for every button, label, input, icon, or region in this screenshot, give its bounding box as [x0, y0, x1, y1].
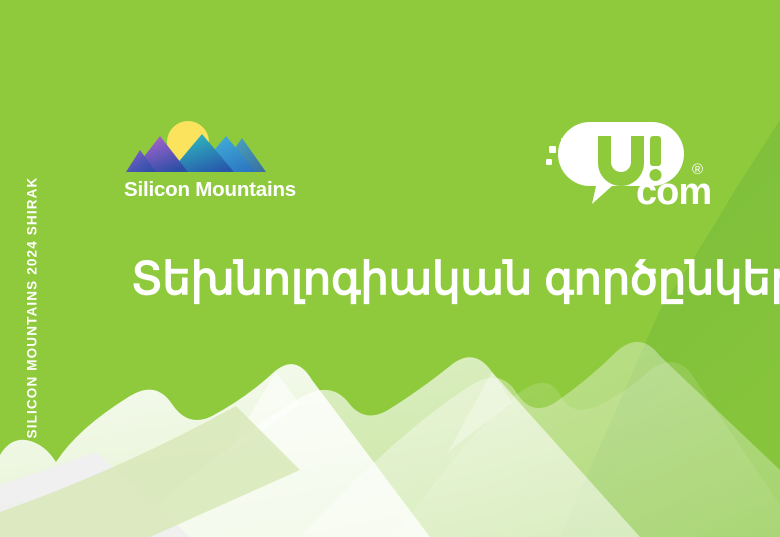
silicon-mountains-wordmark: Silicon Mountains — [124, 178, 296, 202]
ucom-trademark-symbol: ® — [692, 161, 703, 178]
ucom-exclamation-stem — [650, 136, 661, 166]
ucom-logo: com ® — [540, 112, 720, 212]
headline-title: Տեխնոլոգիական գործընկեր — [131, 253, 731, 305]
mountains-sun-icon — [126, 116, 266, 174]
ucom-speech-bubble-logo: com ® — [540, 112, 720, 212]
silicon-mountains-logo: Silicon Mountains — [124, 116, 296, 202]
slide-canvas: SILICON MOUNTAINS 2024 SHIRAK — [0, 0, 780, 537]
